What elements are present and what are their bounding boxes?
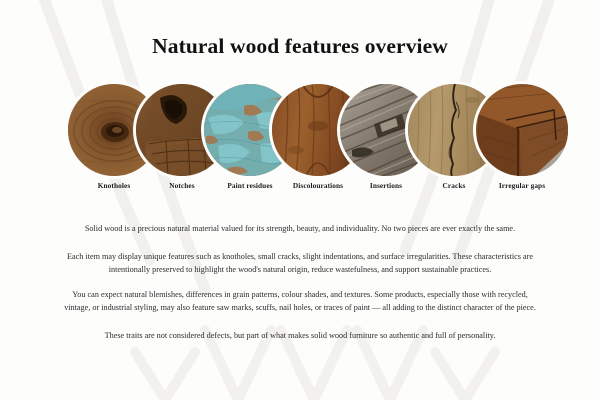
body-copy: Solid wood is a precious natural materia… (42, 222, 558, 342)
feature-circle-strip (0, 84, 600, 176)
infographic-page: Natural wood features overview (0, 0, 600, 400)
paragraph-3: You can expect natural blemishes, differ… (42, 288, 558, 315)
page-title: Natural wood features overview (0, 34, 600, 59)
circle-image-irregular-gaps (476, 84, 568, 176)
paragraph-2: Each item may display unique features su… (42, 250, 558, 277)
feature-circle-irregular-gaps[interactable] (476, 84, 568, 176)
feature-label-row: Knotholes Notches Paint residues Discolo… (0, 181, 600, 195)
feature-label-irregular-gaps: Irregular gaps (476, 181, 568, 190)
paragraph-1: Solid wood is a precious natural materia… (42, 222, 558, 236)
paragraph-4: These traits are not considered defects,… (42, 329, 558, 343)
